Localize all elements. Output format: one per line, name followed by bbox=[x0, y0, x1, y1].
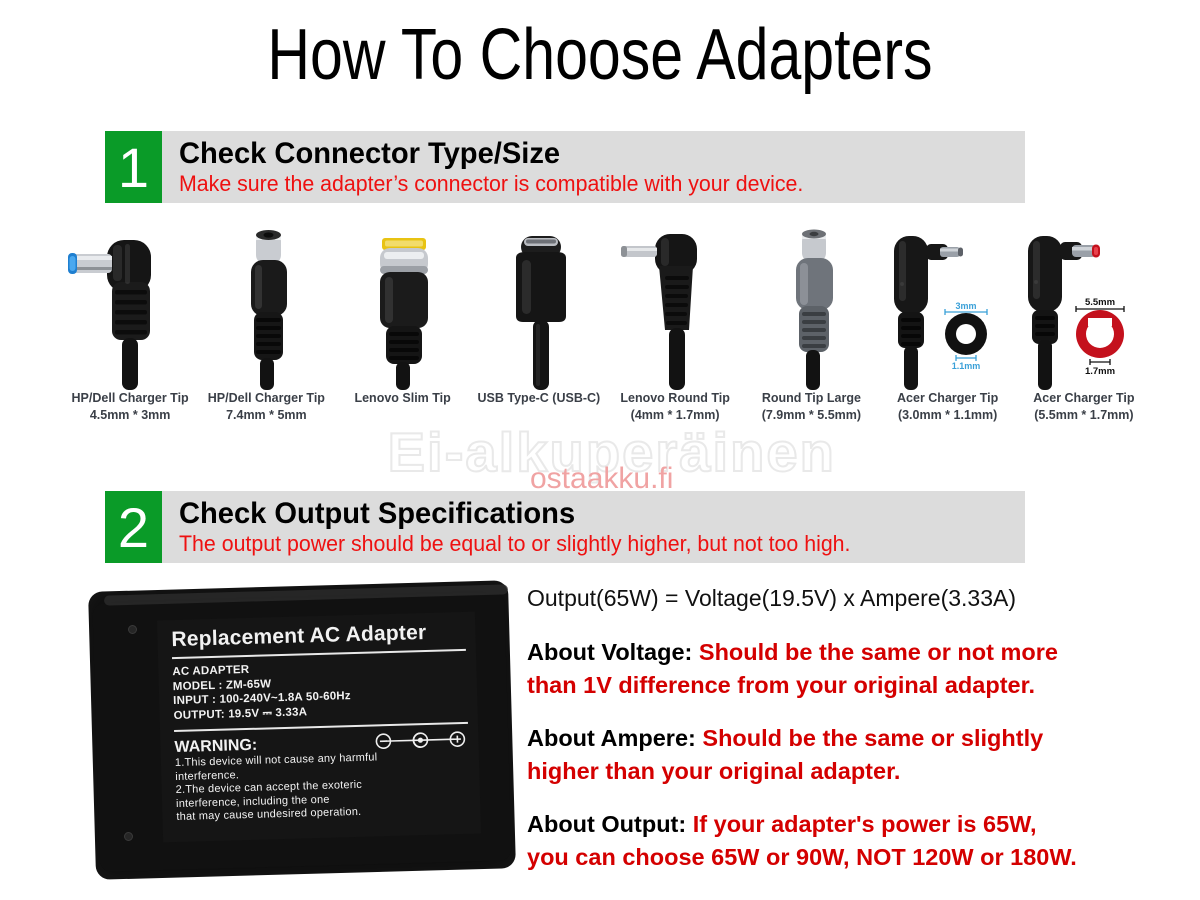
connector-size: 4.5mm * 3mm bbox=[90, 407, 171, 424]
svg-text:1.1mm: 1.1mm bbox=[951, 361, 980, 371]
about-output-line1: If your adapter's power is 65W, bbox=[686, 811, 1036, 837]
about-ampere-line2: higher than your original adapter. bbox=[527, 758, 900, 784]
connector-name: USB Type-C (USB-C) bbox=[478, 390, 601, 407]
about-voltage-line1: Should be the same or not more bbox=[692, 639, 1058, 665]
connector-item-usb-c: USB Type-C (USB-C) bbox=[471, 222, 607, 437]
connector-name: Lenovo Slim Tip bbox=[354, 390, 450, 407]
page-title: How To Choose Adapters bbox=[108, 14, 1092, 96]
step-2-text-block: Check Output Specifications The output p… bbox=[162, 491, 1025, 563]
connector-name: Acer Charger Tip bbox=[1033, 390, 1134, 407]
acer-small-ring-diagram: 3mm 1.1mm bbox=[945, 301, 987, 371]
connector-size: 7.4mm * 5mm bbox=[226, 407, 307, 424]
adapter-label-title: Replacement AC Adapter bbox=[171, 620, 466, 652]
svg-text:5.5mm: 5.5mm bbox=[1085, 297, 1115, 308]
step-1-header: 1 Check Connector Type/Size Make sure th… bbox=[105, 131, 1025, 203]
connector-name: Round Tip Large bbox=[762, 390, 861, 407]
svg-text:1.7mm: 1.7mm bbox=[1085, 366, 1115, 377]
connector-item-lenovo-round: Lenovo Round Tip (4mm * 1.7mm) bbox=[607, 222, 743, 437]
hp-dell-blue-tip-icon bbox=[62, 222, 198, 390]
about-voltage-label: About Voltage: bbox=[527, 639, 692, 665]
connector-item-round-large: Round Tip Large (7.9mm * 5.5mm) bbox=[743, 222, 879, 437]
connector-size: (5.5mm * 1.7mm) bbox=[1034, 407, 1133, 424]
about-output-block: About Output: If your adapter's power is… bbox=[527, 808, 1187, 874]
about-ampere-block: About Ampere: Should be the same or slig… bbox=[527, 722, 1187, 788]
connector-gallery: HP/Dell Charger Tip 4.5mm * 3mm bbox=[62, 222, 1152, 437]
connector-item-hp-dell-7-4mm: HP/Dell Charger Tip 7.4mm * 5mm bbox=[198, 222, 334, 437]
screw-dot bbox=[128, 625, 137, 634]
ac-adapter-brick-image: Replacement AC Adapter AC ADAPTER MODEL … bbox=[84, 568, 514, 890]
step-1-number-badge: 1 bbox=[105, 131, 162, 203]
step-2-subtitle: The output power should be equal to or s… bbox=[179, 530, 1000, 558]
step-2-number-badge: 2 bbox=[105, 491, 162, 563]
acer-large-tip-icon: 5.5mm 1.7mm bbox=[1016, 222, 1152, 390]
connector-size: (3.0mm * 1.1mm) bbox=[898, 407, 997, 424]
about-voltage-line2: than 1V difference from your original ad… bbox=[527, 672, 1035, 698]
connector-name: Acer Charger Tip bbox=[897, 390, 998, 407]
lenovo-slim-tip-icon bbox=[335, 222, 471, 390]
step-2-title: Check Output Specifications bbox=[179, 497, 1000, 530]
about-voltage-block: About Voltage: Should be the same or not… bbox=[527, 636, 1187, 702]
acer-large-ring-diagram: 5.5mm 1.7mm bbox=[1076, 297, 1124, 377]
step-2-header: 2 Check Output Specifications The output… bbox=[105, 491, 1025, 563]
screw-dot bbox=[124, 832, 133, 841]
about-ampere-label: About Ampere: bbox=[527, 725, 696, 751]
step-1-title: Check Connector Type/Size bbox=[179, 137, 1000, 170]
step-1-subtitle: Make sure the adapter’s connector is com… bbox=[179, 170, 1000, 198]
about-output-label: About Output: bbox=[527, 811, 686, 837]
connector-name: HP/Dell Charger Tip bbox=[208, 390, 325, 407]
connector-item-lenovo-slim: Lenovo Slim Tip bbox=[335, 222, 471, 437]
lenovo-round-tip-icon bbox=[607, 222, 743, 390]
output-specifications-text: Output(65W) = Voltage(19.5V) x Ampere(3.… bbox=[527, 583, 1187, 894]
output-equation: Output(65W) = Voltage(19.5V) x Ampere(3.… bbox=[527, 583, 1187, 613]
usb-c-tip-icon bbox=[471, 222, 607, 390]
connector-item-acer-small: 3mm 1.1mm Acer Charger Tip (3.0mm * 1.1m… bbox=[880, 222, 1016, 437]
connector-name: Lenovo Round Tip bbox=[620, 390, 729, 407]
adapter-label-plate: Replacement AC Adapter AC ADAPTER MODEL … bbox=[157, 612, 481, 843]
connector-name: HP/Dell Charger Tip bbox=[72, 390, 189, 407]
about-ampere-line1: Should be the same or slightly bbox=[696, 725, 1043, 751]
acer-small-tip-icon: 3mm 1.1mm bbox=[880, 222, 1016, 390]
connector-item-acer-large: 5.5mm 1.7mm Acer Charger Tip (5.5mm * 1.… bbox=[1016, 222, 1152, 437]
svg-text:3mm: 3mm bbox=[955, 301, 976, 311]
hp-dell-big-tip-icon bbox=[198, 222, 334, 390]
connector-item-hp-dell-4-5mm: HP/Dell Charger Tip 4.5mm * 3mm bbox=[62, 222, 198, 437]
about-output-line2: you can choose 65W or 90W, NOT 120W or 1… bbox=[527, 844, 1077, 870]
polarity-symbol-icon bbox=[374, 730, 466, 751]
round-tip-large-icon bbox=[743, 222, 879, 390]
step-1-text-block: Check Connector Type/Size Make sure the … bbox=[162, 131, 1025, 203]
